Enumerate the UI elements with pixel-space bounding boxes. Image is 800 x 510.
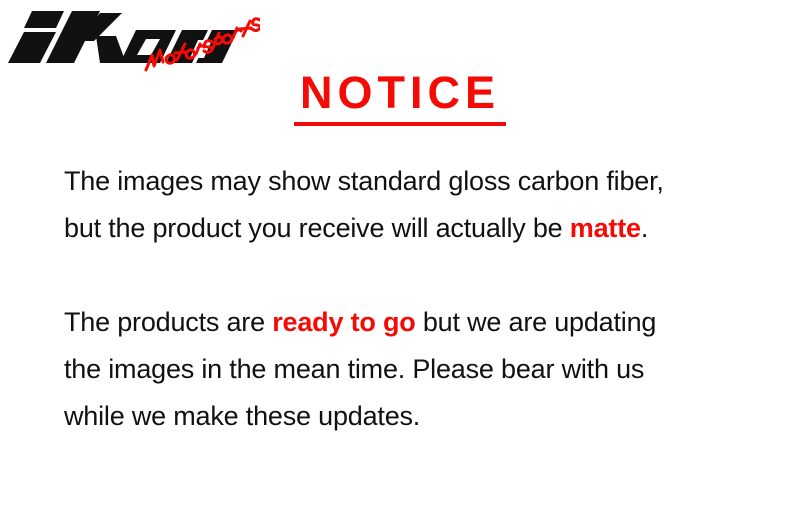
notice-line-3-suffix: but we are updating (416, 307, 657, 337)
notice-paragraph-updating-line2: the images in the mean time. Please bear… (64, 346, 764, 393)
notice-paragraph-updating-line3: while we make these updates. (64, 393, 764, 440)
highlight-ready-to-go: ready to go (272, 307, 415, 337)
page-title: NOTICE (294, 68, 506, 126)
notice-line-2-suffix: . (641, 213, 648, 243)
notice-page: ikon Motorsports NOTICE The images may s… (0, 0, 800, 510)
logo-wordmark-ikon (8, 11, 238, 63)
notice-heading-container: NOTICE (0, 68, 800, 126)
notice-line-2-prefix: but the product you receive will actuall… (64, 213, 570, 243)
notice-paragraph-matte-line2: but the product you receive will actuall… (64, 205, 764, 252)
notice-paragraph-updating: The products are ready to go but we are … (64, 299, 764, 346)
notice-body: The images may show standard gloss carbo… (64, 158, 764, 440)
notice-paragraph-matte: The images may show standard gloss carbo… (64, 158, 764, 205)
highlight-matte: matte (570, 213, 641, 243)
notice-line-3-prefix: The products are (64, 307, 272, 337)
notice-line-5: while we make these updates. (64, 401, 420, 431)
notice-line-4: the images in the mean time. Please bear… (64, 354, 644, 384)
notice-line-1: The images may show standard gloss carbo… (64, 166, 664, 196)
